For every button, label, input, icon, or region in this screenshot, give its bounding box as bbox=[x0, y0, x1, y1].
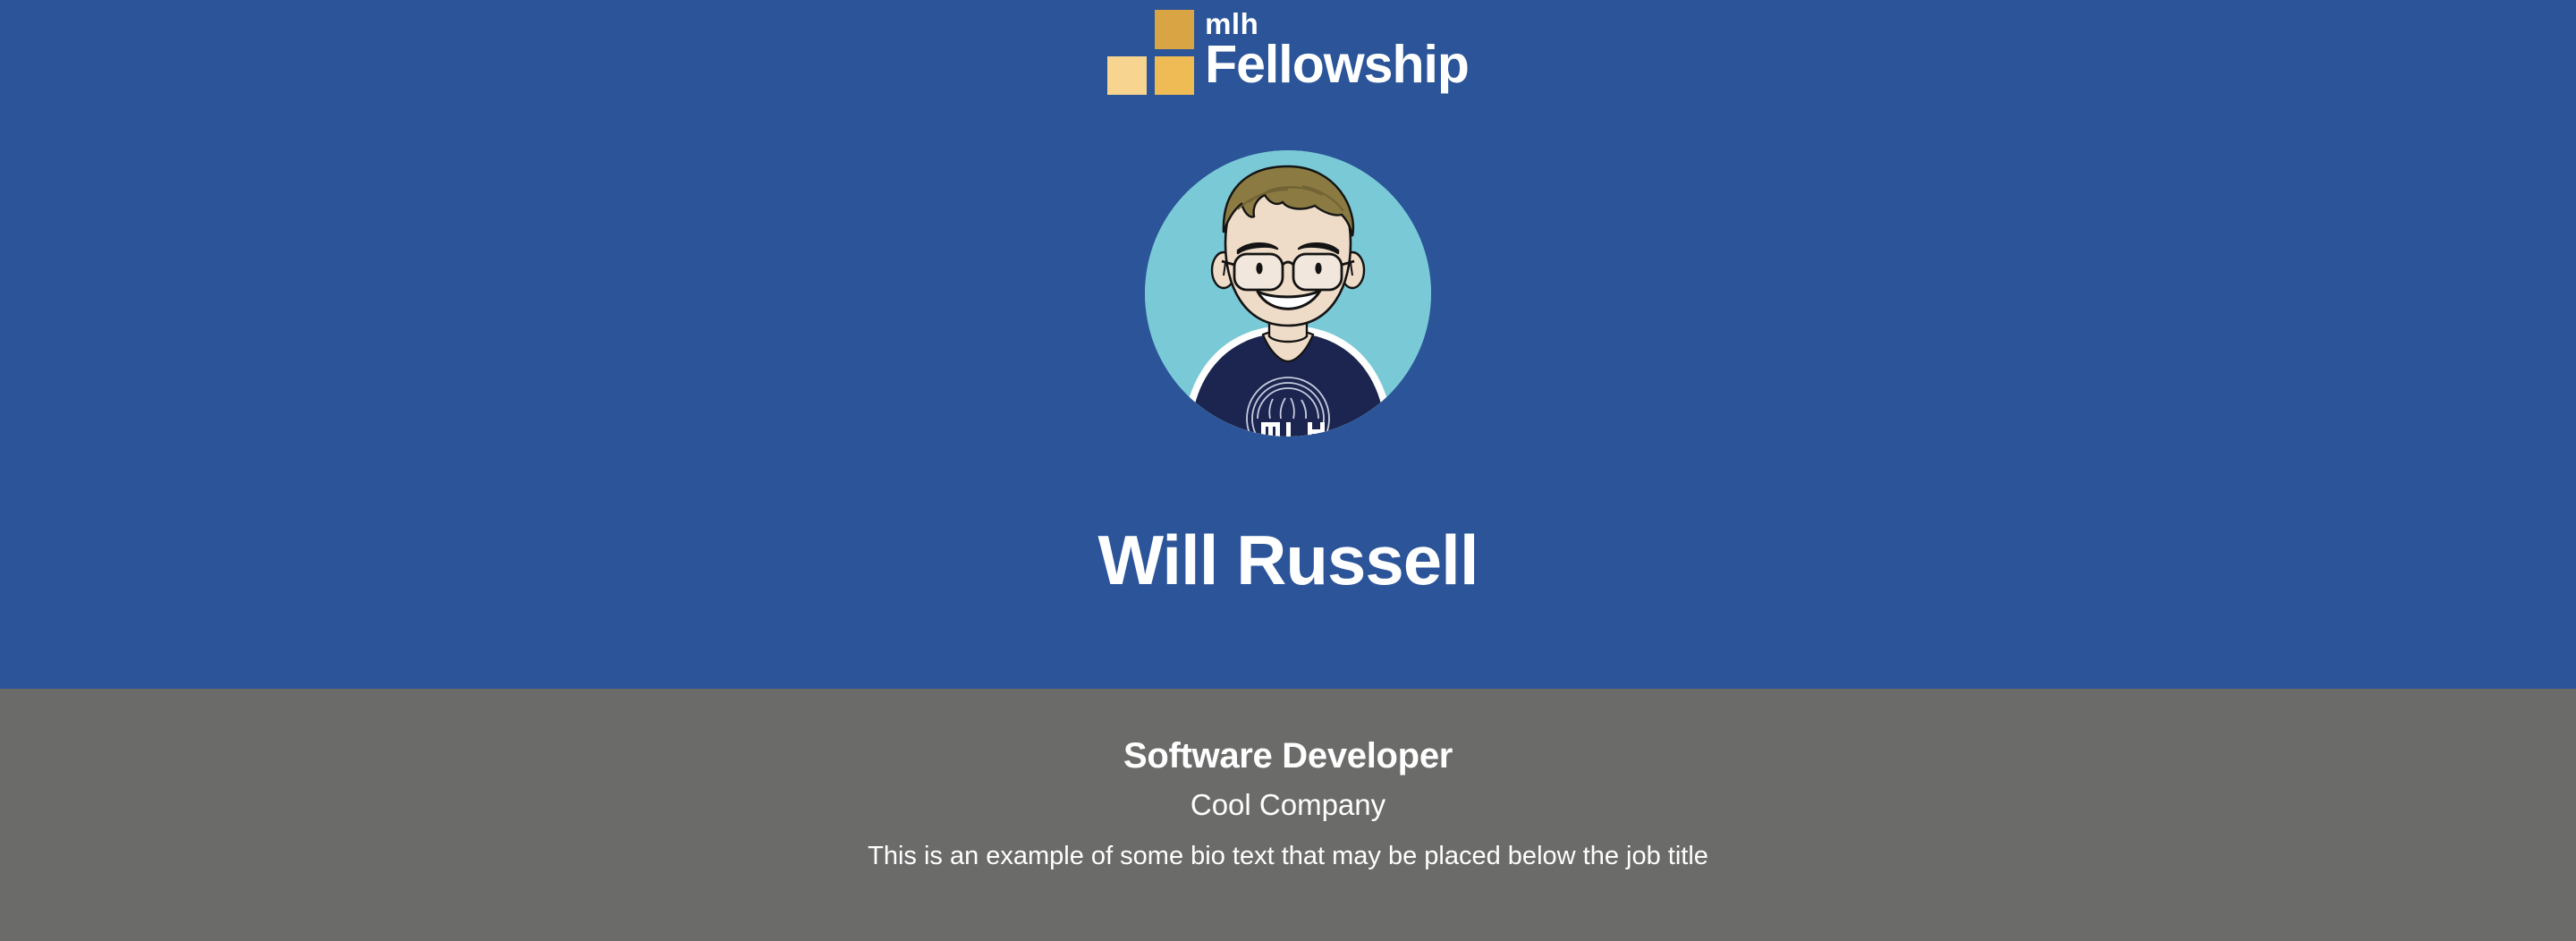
mlh-square-top-right bbox=[1155, 10, 1194, 49]
page-title: Will Russell bbox=[0, 524, 2576, 598]
job-title: Software Developer bbox=[1123, 735, 1453, 776]
logo-fellowship-text: Fellowship bbox=[1205, 39, 1469, 91]
mlh-fellowship-logo[interactable]: mlh Fellowship bbox=[1107, 10, 1469, 95]
mlh-square-bottom-right bbox=[1155, 56, 1194, 95]
profile-info-section: Software Developer Cool Company This is … bbox=[0, 689, 2576, 941]
company-name: Cool Company bbox=[1191, 787, 1385, 823]
mlh-logo-squares-icon bbox=[1107, 10, 1194, 94]
bio-text: This is an example of some bio text that… bbox=[868, 840, 1708, 872]
mlh-square-bottom-left bbox=[1107, 56, 1147, 95]
profile-hero-section: mlh Fellowship bbox=[0, 0, 2576, 689]
mlh-logo-wordmark: mlh Fellowship bbox=[1205, 10, 1469, 91]
avatar bbox=[1145, 150, 1431, 437]
avatar-illustration-icon bbox=[1145, 150, 1431, 437]
logo-mlh-text: mlh bbox=[1205, 11, 1469, 38]
